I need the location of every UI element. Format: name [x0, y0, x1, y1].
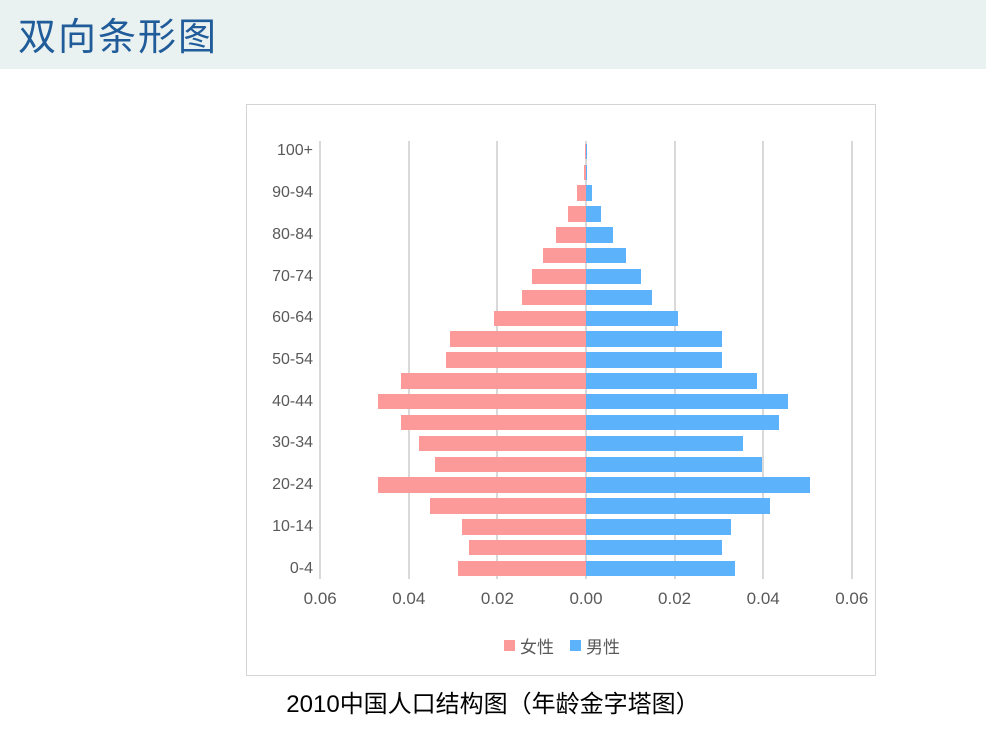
chart-legend: 女性男性: [247, 633, 877, 658]
bar-female-35-39[interactable]: [401, 415, 586, 430]
chart-bar-row: [320, 498, 851, 513]
chart-plot-area: [320, 141, 851, 579]
page-title: 双向条形图: [18, 6, 218, 61]
bar-female-45-49[interactable]: [401, 373, 586, 388]
x-axis-tick-label: 0.02: [481, 589, 514, 609]
bar-male-80-84[interactable]: [586, 227, 613, 242]
legend-swatch-icon: [570, 640, 581, 651]
bar-male-70-74[interactable]: [586, 269, 641, 284]
bar-male-5-9[interactable]: [586, 540, 722, 555]
bar-female-5-9[interactable]: [469, 540, 586, 555]
y-axis-tick-label: 90-94: [247, 184, 313, 202]
chart-bar-row: [320, 519, 851, 534]
bar-male-90-94[interactable]: [586, 185, 592, 200]
bar-female-55-59[interactable]: [450, 331, 586, 346]
x-axis-tick-label: 0.06: [304, 589, 337, 609]
chart-gridline: [851, 141, 853, 579]
chart-container: 0-410-1420-2430-3440-4450-5460-6470-7480…: [246, 104, 876, 676]
chart-bar-row: [320, 290, 851, 305]
legend-label: 女性: [520, 633, 554, 658]
chart-bar-row: [320, 394, 851, 409]
bar-female-80-84[interactable]: [556, 227, 586, 242]
bar-male-10-14[interactable]: [586, 519, 731, 534]
bar-male-30-34[interactable]: [586, 436, 743, 451]
y-axis-tick-label: 50-54: [247, 351, 313, 369]
chart-x-axis: 0.060.040.020.000.020.040.06: [247, 589, 877, 613]
chart-bar-row: [320, 248, 851, 263]
bar-female-90-94[interactable]: [577, 185, 586, 200]
legend-item[interactable]: 女性: [504, 633, 554, 658]
bar-male-25-29[interactable]: [586, 457, 762, 472]
bar-female-0-4[interactable]: [458, 561, 586, 576]
x-axis-tick-label: 0.06: [835, 589, 868, 609]
bar-male-45-49[interactable]: [586, 373, 757, 388]
chart-bar-row: [320, 457, 851, 472]
bar-female-50-54[interactable]: [446, 352, 586, 367]
chart-bar-row: [320, 269, 851, 284]
y-axis-tick-label: 70-74: [247, 268, 313, 286]
y-axis-tick-label: 40-44: [247, 393, 313, 411]
bar-male-50-54[interactable]: [586, 352, 722, 367]
bar-female-20-24[interactable]: [378, 477, 586, 492]
legend-label: 男性: [586, 633, 620, 658]
chart-bar-row: [320, 436, 851, 451]
bar-male-95-99[interactable]: [586, 165, 587, 180]
chart-caption: 2010中国人口结构图（年龄金字塔图）: [0, 684, 986, 719]
y-axis-tick-label: 100+: [247, 142, 313, 160]
bar-female-85-89[interactable]: [568, 206, 586, 221]
chart-y-axis: 0-410-1420-2430-3440-4450-5460-6470-7480…: [247, 141, 313, 579]
chart-bar-row: [320, 331, 851, 346]
slide-header-band: 双向条形图: [0, 0, 986, 69]
bar-female-60-64[interactable]: [494, 311, 586, 326]
legend-swatch-icon: [504, 640, 515, 651]
y-axis-tick-label: 80-84: [247, 226, 313, 244]
chart-bar-row: [320, 165, 851, 180]
bar-male-75-79[interactable]: [586, 248, 626, 263]
bar-female-10-14[interactable]: [462, 519, 586, 534]
bar-female-70-74[interactable]: [532, 269, 586, 284]
y-axis-tick-label: 20-24: [247, 476, 313, 494]
bar-male-55-59[interactable]: [586, 331, 722, 346]
chart-bar-row: [320, 561, 851, 576]
chart-bar-row: [320, 206, 851, 221]
x-axis-tick-label: 0.04: [392, 589, 425, 609]
bar-female-40-44[interactable]: [378, 394, 586, 409]
chart-bar-row: [320, 311, 851, 326]
bar-male-35-39[interactable]: [586, 415, 779, 430]
chart-bar-row: [320, 373, 851, 388]
bar-male-40-44[interactable]: [586, 394, 788, 409]
bar-female-15-19[interactable]: [430, 498, 586, 513]
bar-female-65-69[interactable]: [522, 290, 586, 305]
x-axis-tick-label: 0.02: [658, 589, 691, 609]
bar-male-60-64[interactable]: [586, 311, 678, 326]
chart-bar-row: [320, 477, 851, 492]
bar-male-0-4[interactable]: [586, 561, 735, 576]
bar-male-65-69[interactable]: [586, 290, 652, 305]
y-axis-tick-label: 0-4: [247, 560, 313, 578]
bar-female-25-29[interactable]: [435, 457, 586, 472]
chart-bar-row: [320, 415, 851, 430]
y-axis-tick-label: 30-34: [247, 434, 313, 452]
bar-male-15-19[interactable]: [586, 498, 770, 513]
chart-bar-row: [320, 144, 851, 159]
bar-female-30-34[interactable]: [419, 436, 586, 451]
y-axis-tick-label: 60-64: [247, 309, 313, 327]
chart-bar-row: [320, 185, 851, 200]
bar-female-75-79[interactable]: [543, 248, 586, 263]
bar-male-85-89[interactable]: [586, 206, 601, 221]
chart-bar-row: [320, 352, 851, 367]
x-axis-tick-label: 0.00: [569, 589, 602, 609]
y-axis-tick-label: 10-14: [247, 518, 313, 536]
bar-male-20-24[interactable]: [586, 477, 810, 492]
chart-bar-row: [320, 540, 851, 555]
legend-item[interactable]: 男性: [570, 633, 620, 658]
x-axis-tick-label: 0.04: [747, 589, 780, 609]
chart-bar-row: [320, 227, 851, 242]
